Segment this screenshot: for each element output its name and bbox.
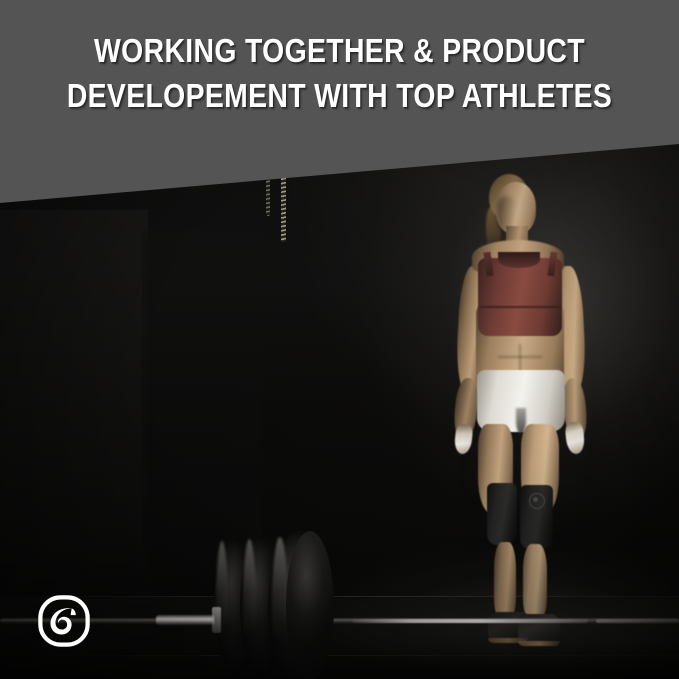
calf-right [523, 544, 547, 618]
barbell-sleeve-left [156, 615, 216, 625]
title-line-2: DEVELOPEMENT WITH TOP ATHLETES [48, 73, 632, 118]
title-banner-inner: WORKING TOGETHER & PRODUCT DEVELOPEMENT … [0, 0, 679, 118]
barbell-shaft-right [596, 619, 679, 623]
ab-line-upper [498, 356, 542, 358]
barbell-shaft-highlight [352, 619, 588, 623]
calf-left [494, 542, 516, 618]
barbell-collar [212, 607, 221, 633]
bumper-plate-rim [216, 541, 228, 671]
sports-bra-seam [480, 306, 560, 308]
title-line-1: WORKING TOGETHER & PRODUCT [48, 28, 632, 73]
shoe-right-sole [518, 641, 560, 646]
knee-sleeve-left [487, 483, 517, 545]
bumper-plate-rim [243, 539, 256, 673]
rehband-logo [37, 594, 91, 648]
bumper-plate-face [286, 531, 334, 679]
knee-sleeve-logo-icon [529, 493, 545, 509]
sports-bra-neckline [498, 252, 540, 268]
screenshot-root: WORKING TOGETHER & PRODUCT DEVELOPEMENT … [0, 0, 679, 679]
